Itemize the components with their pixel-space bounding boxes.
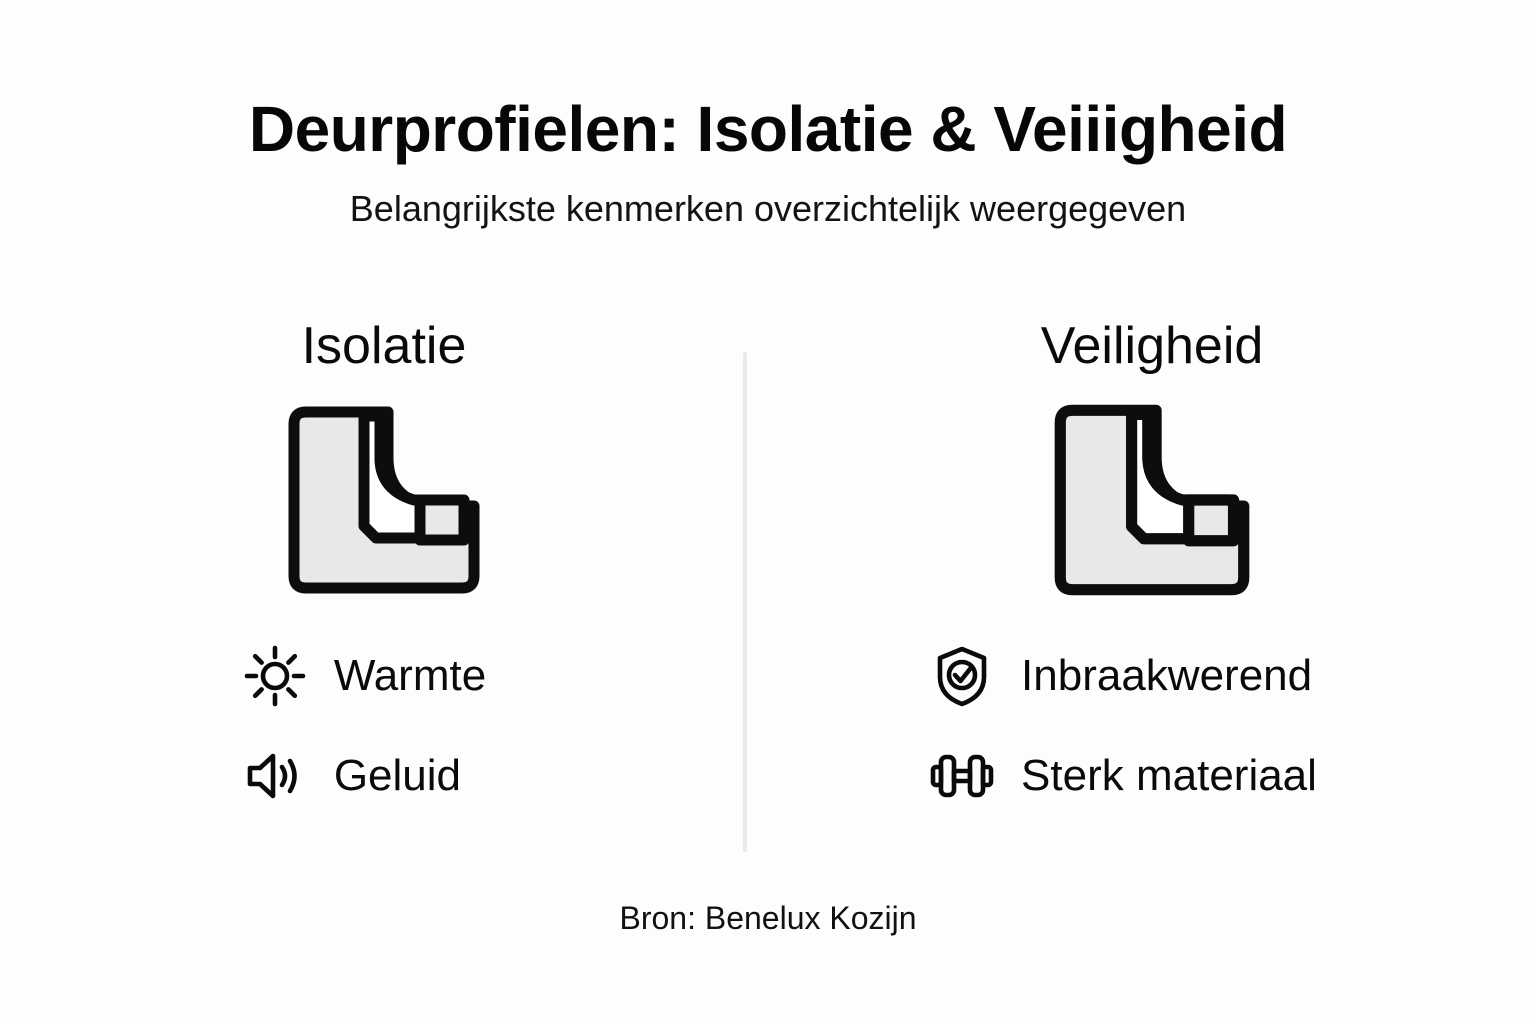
- page-title: Deurprofielen: Isolatie & Veiiigheid: [0, 96, 1536, 163]
- header: Deurprofielen: Isolatie & Veiiigheid Bel…: [0, 96, 1536, 229]
- column-heading-isolatie: Isolatie: [302, 318, 467, 375]
- feature-list-isolatie: Warmte Geluid: [242, 643, 486, 809]
- column-isolatie: Isolatie: [0, 318, 768, 809]
- shield-check-icon: [929, 643, 995, 709]
- source-attribution: Bron: Benelux Kozijn: [0, 900, 1536, 937]
- feature-label: Sterk materiaal: [1021, 754, 1317, 798]
- page-subtitle: Belangrijkste kenmerken overzichtelijk w…: [0, 189, 1536, 229]
- feature-label: Inbraakwerend: [1021, 654, 1312, 698]
- feature-row: Geluid: [242, 743, 486, 809]
- feature-label: Warmte: [334, 654, 486, 698]
- profile-illustration-isolatie: [280, 397, 488, 603]
- door-profile-cross-section-icon: [1046, 398, 1258, 602]
- sun-icon: [242, 643, 308, 709]
- infographic-poster: Deurprofielen: Isolatie & Veiiigheid Bel…: [0, 0, 1536, 1024]
- speaker-sound-icon: [242, 743, 308, 809]
- feature-row: Inbraakwerend: [929, 643, 1317, 709]
- door-profile-cross-section-icon: [280, 400, 488, 600]
- feature-row: Warmte: [242, 643, 486, 709]
- columns-container: Isolatie: [0, 318, 1536, 809]
- dumbbell-icon: [929, 743, 995, 809]
- feature-row: Sterk materiaal: [929, 743, 1317, 809]
- column-heading-veiligheid: Veiligheid: [1041, 318, 1264, 375]
- profile-illustration-veiligheid: [1046, 397, 1258, 603]
- feature-list-veiligheid: Inbraakwerend Sterk materiaal: [929, 643, 1317, 809]
- feature-label: Geluid: [334, 754, 461, 798]
- column-veiligheid: Veiligheid: [768, 318, 1536, 809]
- footer: Bron: Benelux Kozijn: [0, 900, 1536, 937]
